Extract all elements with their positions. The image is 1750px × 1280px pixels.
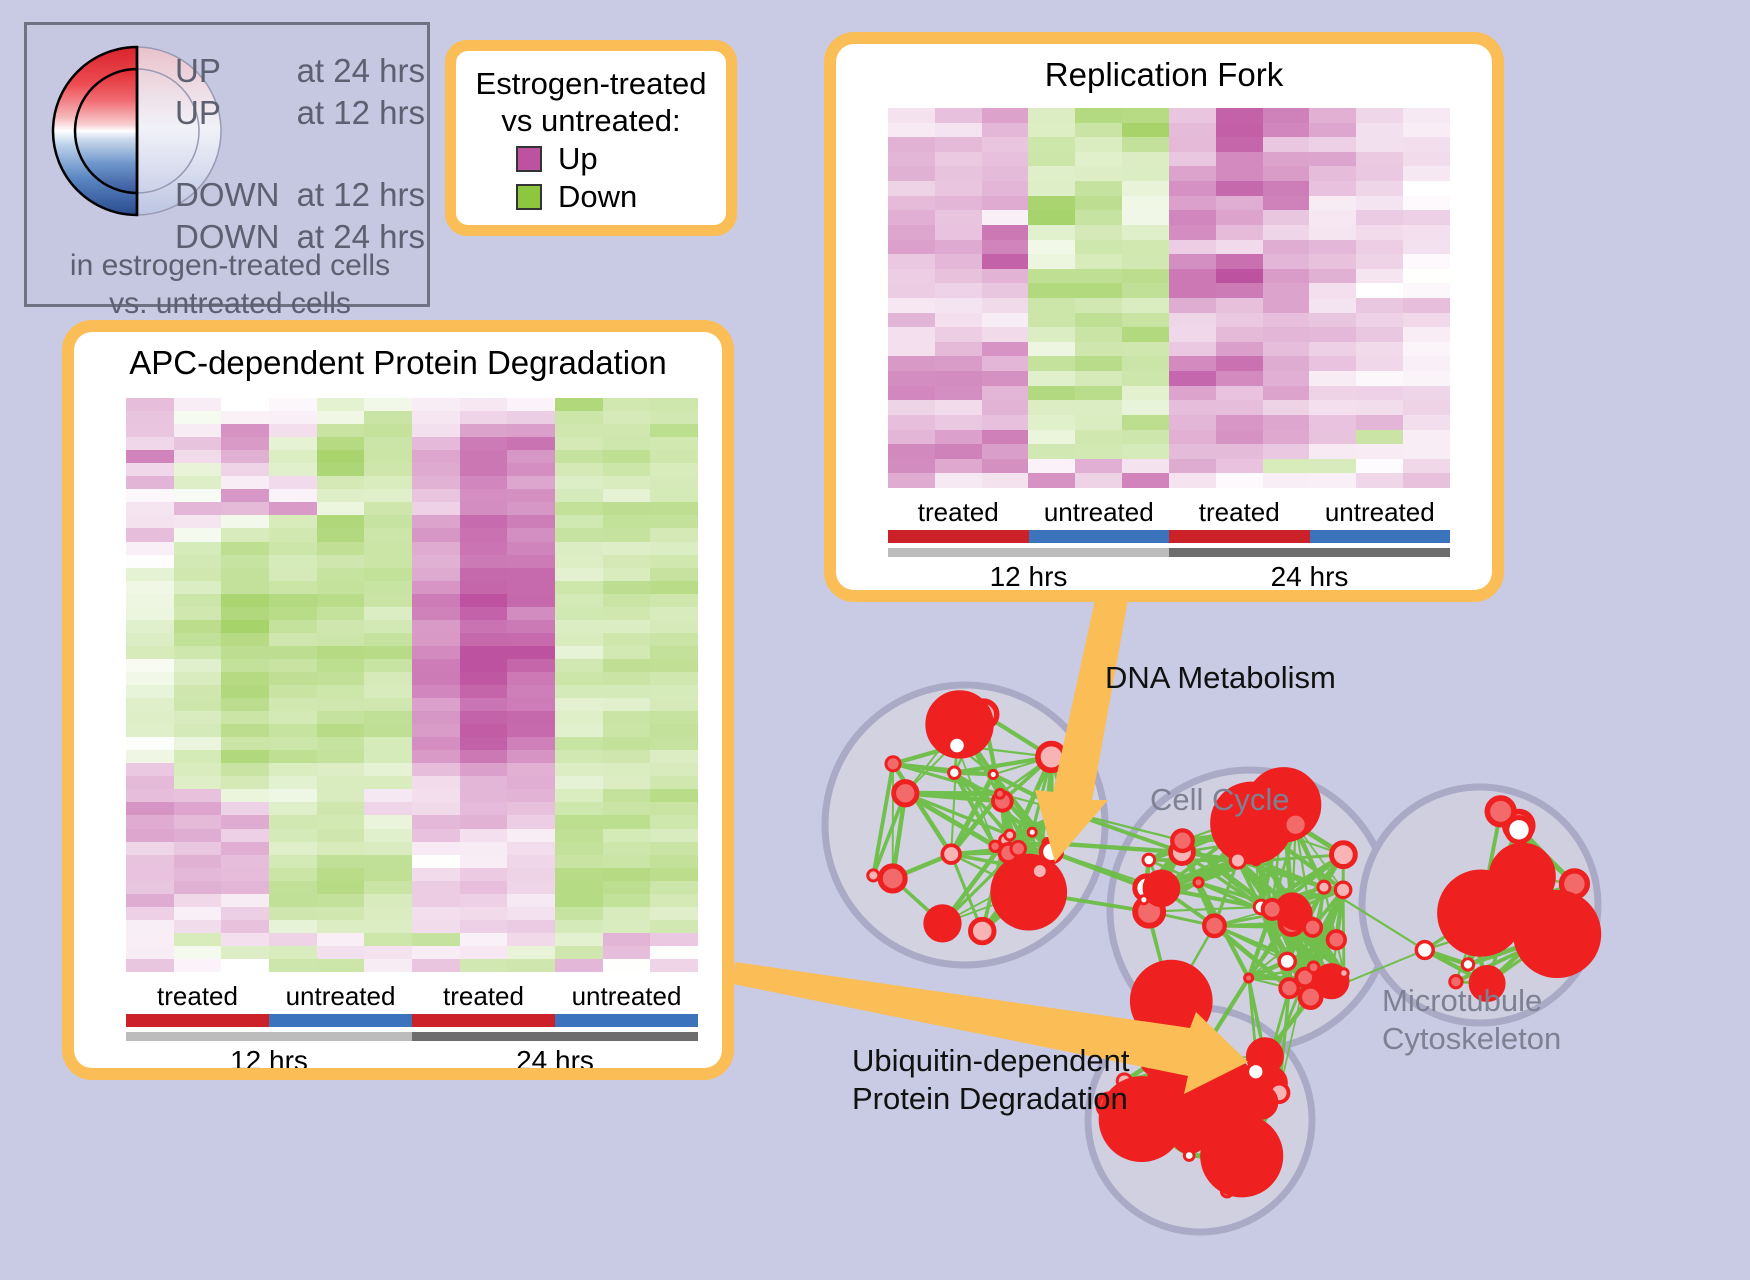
heatmap-cell	[460, 959, 508, 972]
heatmap-cell	[126, 933, 174, 946]
heatmap-cell	[1263, 415, 1310, 430]
network-node-core[interactable]	[1523, 899, 1592, 968]
heatmap-cell	[364, 594, 412, 607]
network-node[interactable]	[1184, 1151, 1194, 1161]
heatmap-cell	[1403, 473, 1450, 488]
heatmap-cell	[364, 568, 412, 581]
heatmap-cell	[555, 398, 603, 411]
heatmap-cell	[174, 437, 222, 450]
heatmap-cell	[603, 829, 651, 842]
heatmap-cell	[412, 502, 460, 515]
heatmap-cell	[317, 424, 365, 437]
heatmap-cell	[1403, 225, 1450, 240]
heatmap-cell	[1122, 298, 1169, 313]
heatmap-cell	[1356, 283, 1403, 298]
heatmap-cell	[555, 868, 603, 881]
heatmap-cell	[650, 920, 698, 933]
group-label-untreated-24: untreated	[555, 980, 698, 1012]
heatmap-cell	[126, 594, 174, 607]
heatmap-cell	[1263, 137, 1310, 152]
heatmap-cell	[174, 894, 222, 907]
bar-treated-24	[1169, 530, 1310, 543]
heatmap-cell	[174, 581, 222, 594]
heatmap-cell	[982, 108, 1029, 123]
network-node[interactable]	[1140, 896, 1148, 904]
network-node[interactable]	[1172, 830, 1193, 851]
heatmap-cell	[1216, 269, 1263, 284]
network-node[interactable]	[970, 919, 994, 943]
heatmap-cell	[1356, 152, 1403, 167]
bar-untreated-24	[555, 1014, 698, 1027]
heatmap-cell	[1028, 254, 1075, 269]
bar-treated-12	[126, 1014, 269, 1027]
heatmap-cell	[126, 424, 174, 437]
heatmap-cell	[603, 502, 651, 515]
heatmap-cell	[603, 594, 651, 607]
heatmap-cell	[888, 254, 935, 269]
heatmap-cell	[460, 555, 508, 568]
heatmap-cell	[412, 920, 460, 933]
heatmap-cell	[935, 137, 982, 152]
heatmap-cell	[507, 894, 555, 907]
heatmap-cell	[1263, 166, 1310, 181]
network-node[interactable]	[1462, 959, 1473, 970]
network-node[interactable]	[1245, 974, 1253, 982]
heatmap-cell	[1122, 152, 1169, 167]
network-node-core[interactable]	[999, 862, 1059, 922]
heatmap-cell	[1309, 356, 1356, 371]
heatmap-cell	[126, 555, 174, 568]
network-node[interactable]	[886, 757, 900, 771]
heatmap-cell	[412, 829, 460, 842]
heatmap-cell	[603, 437, 651, 450]
heatmap-cell	[126, 646, 174, 659]
heatmap-cell	[460, 398, 508, 411]
network-node[interactable]	[1005, 830, 1015, 840]
heatmap-cell	[269, 894, 317, 907]
heatmap-cell	[1169, 181, 1216, 196]
heatmap-cell	[982, 298, 1029, 313]
heatmap-cell	[1075, 225, 1122, 240]
heatmap-cell	[1356, 342, 1403, 357]
heatmap-cell	[126, 489, 174, 502]
heatmap-cell	[650, 685, 698, 698]
network-node[interactable]	[1487, 798, 1514, 825]
heatmap-cell	[364, 411, 412, 424]
heatmap-cell	[1403, 371, 1450, 386]
heatmap-cell	[982, 225, 1029, 240]
heatmap-cell	[126, 894, 174, 907]
heatmap-cell	[364, 724, 412, 737]
heatmap-cell	[412, 815, 460, 828]
heatmap-cell	[982, 152, 1029, 167]
heatmap-cell	[269, 463, 317, 476]
heatmap-cell	[460, 424, 508, 437]
heatmap-cell	[1403, 152, 1450, 167]
heatmap-cell	[982, 356, 1029, 371]
network-node-core[interactable]	[1147, 874, 1177, 904]
heatmap-cell	[174, 789, 222, 802]
heatmap-cell	[412, 789, 460, 802]
heatmap-cell	[1403, 298, 1450, 313]
network-node[interactable]	[942, 845, 960, 863]
heatmap-cell	[1169, 283, 1216, 298]
heatmap-cell	[1122, 181, 1169, 196]
heatmap-cell	[364, 528, 412, 541]
heatmap-cell	[888, 269, 935, 284]
network-node[interactable]	[1011, 841, 1025, 855]
heatmap-cell	[1216, 108, 1263, 123]
heatmap-cell	[174, 489, 222, 502]
heatmap-cell	[982, 459, 1029, 474]
network-node[interactable]	[1263, 900, 1282, 919]
heatmap-cell	[935, 313, 982, 328]
network-node-core[interactable]	[927, 908, 957, 938]
heatmap-cell	[269, 881, 317, 894]
heatmap-cell	[317, 855, 365, 868]
heatmap-cell	[1028, 240, 1075, 255]
heatmap-cell	[126, 737, 174, 750]
heatmap-cell	[507, 437, 555, 450]
heatmap-cell	[1356, 166, 1403, 181]
heatmap-cell	[174, 555, 222, 568]
network-node[interactable]	[1308, 962, 1319, 973]
heatmap-cell	[221, 411, 269, 424]
heatmap-cell	[935, 444, 982, 459]
heatmap-cell	[126, 620, 174, 633]
heatmap-cell	[1028, 210, 1075, 225]
heatmap-cell	[221, 515, 269, 528]
heatmap-cell	[507, 959, 555, 972]
heatmap-cell	[412, 411, 460, 424]
heatmap-cell	[364, 463, 412, 476]
network-node[interactable]	[1328, 931, 1346, 949]
heatmap-cell	[555, 633, 603, 646]
heatmap-cell	[507, 555, 555, 568]
heatmap-cell	[888, 415, 935, 430]
heatmap-cell	[507, 476, 555, 489]
up-swatch-icon	[516, 146, 542, 172]
group-label-untreated-12: untreated	[269, 980, 412, 1012]
axis-apc-degradation: treated untreated treated untreated 12 h	[126, 980, 698, 1068]
heatmap-cell	[1356, 356, 1403, 371]
network-node[interactable]	[1280, 979, 1298, 997]
heatmap-cell	[1356, 269, 1403, 284]
heatmap-cell	[982, 254, 1029, 269]
network-node-core[interactable]	[1496, 850, 1549, 903]
heatmap-cell	[174, 672, 222, 685]
heatmap-cell	[935, 430, 982, 445]
heatmap-cell	[888, 371, 935, 386]
heatmap-cell	[1403, 196, 1450, 211]
network-node[interactable]	[1204, 916, 1225, 937]
heatmap-cell	[982, 240, 1029, 255]
network-node[interactable]	[949, 767, 960, 778]
timepoint-label-24: 24 hrs	[1169, 559, 1450, 590]
bar-12hrs	[888, 548, 1169, 557]
heatmap-cell	[935, 196, 982, 211]
heatmap-cell	[364, 489, 412, 502]
heatmap-cell	[982, 210, 1029, 225]
heatmap-cell	[269, 594, 317, 607]
heatmap-cell	[1028, 459, 1075, 474]
heatmap-cell	[412, 398, 460, 411]
heatmap-cell	[888, 459, 935, 474]
heatmap-cell	[1075, 415, 1122, 430]
heatmap-cell	[1309, 415, 1356, 430]
heatmap-cell	[126, 881, 174, 894]
network-node[interactable]	[1247, 1063, 1264, 1080]
heatmap-cell	[1263, 444, 1310, 459]
heatmap-cell	[364, 698, 412, 711]
heatmap-cell	[1122, 356, 1169, 371]
heatmap-cell	[1263, 269, 1310, 284]
heatmap-cell	[1169, 473, 1216, 488]
heatmap-cell	[603, 894, 651, 907]
heatmap-cell	[1028, 356, 1075, 371]
network-node[interactable]	[1416, 942, 1433, 959]
heatmap-cell	[1028, 342, 1075, 357]
heatmap-cell	[364, 894, 412, 907]
network-node[interactable]	[1143, 854, 1155, 866]
heatmap-cell	[1122, 430, 1169, 445]
heatmap-cell	[364, 620, 412, 633]
heatmap-cell	[888, 240, 935, 255]
heatmap-cell	[174, 776, 222, 789]
heatmap-cell	[650, 750, 698, 763]
network-node[interactable]	[989, 770, 997, 778]
heatmap-cell	[603, 581, 651, 594]
heatmap-cell	[317, 946, 365, 959]
heatmap-cell	[317, 737, 365, 750]
heatmap-cell	[269, 672, 317, 685]
network-node[interactable]	[1041, 841, 1062, 862]
heatmap-cell	[1075, 254, 1122, 269]
network-node[interactable]	[1340, 969, 1348, 977]
heatmap-cell	[650, 946, 698, 959]
heatmap-cell	[221, 646, 269, 659]
heatmap-cell	[317, 959, 365, 972]
network-node[interactable]	[868, 870, 879, 881]
network-node[interactable]	[1331, 843, 1355, 867]
heatmap-cell	[1122, 459, 1169, 474]
heatmap-cell	[555, 659, 603, 672]
heatmap-cell	[364, 907, 412, 920]
heatmap-cell	[507, 946, 555, 959]
heatmap-cell	[364, 763, 412, 776]
heatmap-cell	[1309, 430, 1356, 445]
heatmap-cell	[412, 594, 460, 607]
heatmap-cell	[460, 750, 508, 763]
heatmap-cell	[1356, 459, 1403, 474]
heatmap-cell	[269, 398, 317, 411]
heatmap-cell	[269, 450, 317, 463]
heatmap-cell	[269, 555, 317, 568]
network-node[interactable]	[894, 782, 917, 805]
heatmap-cell	[364, 737, 412, 750]
heatmap-cell	[650, 711, 698, 724]
heatmap-cell	[317, 515, 365, 528]
heatmap-cell	[935, 386, 982, 401]
heatmap-cell	[364, 424, 412, 437]
heatmap-cell	[412, 737, 460, 750]
heatmap-cell	[1075, 283, 1122, 298]
network-node[interactable]	[1318, 881, 1330, 893]
heatmap-cell	[555, 672, 603, 685]
heatmap-cell	[650, 737, 698, 750]
heatmap-cell	[460, 829, 508, 842]
heatmap-cell	[1216, 400, 1263, 415]
network-node-core[interactable]	[1139, 969, 1204, 1034]
heatmap-cell	[1122, 166, 1169, 181]
network-node[interactable]	[995, 789, 1004, 798]
network-node-core[interactable]	[1240, 1152, 1267, 1179]
heatmap-cell	[221, 842, 269, 855]
heatmap-cell	[412, 750, 460, 763]
heatmap-cell	[269, 437, 317, 450]
heatmap-cell	[1122, 415, 1169, 430]
heatmap-cell	[174, 868, 222, 881]
heatmap-cell	[1075, 342, 1122, 357]
heatmap-cell	[126, 633, 174, 646]
heatmap-cell	[1263, 473, 1310, 488]
heatmap-cell	[1216, 254, 1263, 269]
heatmap-cell	[888, 400, 935, 415]
heatmap-cell	[1169, 415, 1216, 430]
heatmap-cell	[412, 581, 460, 594]
network-node[interactable]	[1032, 864, 1047, 879]
heatmap-cell	[221, 685, 269, 698]
heatmap-cell	[364, 555, 412, 568]
heatmap-cell	[507, 933, 555, 946]
heatmap-cell	[888, 225, 935, 240]
heatmap-cell	[1028, 181, 1075, 196]
heatmap-cell	[603, 789, 651, 802]
heatmap-cell	[507, 829, 555, 842]
bar-untreated-12	[269, 1014, 412, 1027]
heatmap-cell	[1403, 342, 1450, 357]
heatmap-cell	[269, 659, 317, 672]
heatmap-cell	[317, 711, 365, 724]
heatmap-cell	[603, 776, 651, 789]
heatmap-cell	[1403, 444, 1450, 459]
heatmap-cell	[174, 711, 222, 724]
timepoint-label-row: 12 hrs 24 hrs	[126, 1043, 698, 1068]
heatmap-cell	[555, 776, 603, 789]
heatmap-cell	[1263, 225, 1310, 240]
heatmap-cell	[1263, 210, 1310, 225]
heatmap-cell	[603, 542, 651, 555]
heatmap-cell	[1028, 283, 1075, 298]
heatmap-cell	[364, 542, 412, 555]
heatmap-cell	[412, 959, 460, 972]
heatmap-cell	[507, 528, 555, 541]
network-node[interactable]	[1038, 744, 1065, 771]
heatmap-cell	[126, 502, 174, 515]
heatmap-cell	[221, 672, 269, 685]
heatmap-cell	[126, 607, 174, 620]
network-node[interactable]	[1028, 828, 1036, 836]
heatmap-cell	[888, 137, 935, 152]
heatmap-cell	[126, 842, 174, 855]
network-node-core[interactable]	[1247, 1088, 1275, 1116]
network-node-core[interactable]	[1151, 1061, 1178, 1088]
heatmap-cell	[1216, 196, 1263, 211]
heatmap-cell	[174, 542, 222, 555]
group-label-row: treated untreated treated untreated	[126, 980, 698, 1012]
heatmap-cell	[126, 907, 174, 920]
heatmap-cell	[317, 594, 365, 607]
heatmap-cell	[507, 776, 555, 789]
heatmap-cell	[317, 815, 365, 828]
network-node[interactable]	[1335, 882, 1350, 897]
heatmap-cell	[317, 437, 365, 450]
heatmap-cell	[507, 737, 555, 750]
heatmap-cell	[126, 685, 174, 698]
network-node[interactable]	[1300, 986, 1321, 1007]
heatmap-cell	[269, 489, 317, 502]
heatmap-cell	[317, 489, 365, 502]
heatmap-cell	[1263, 196, 1310, 211]
heatmap-cell	[650, 698, 698, 711]
heatmap-cell	[221, 933, 269, 946]
heatmap-cell	[1216, 152, 1263, 167]
heatmap-cell	[650, 789, 698, 802]
heatmap-cell	[935, 283, 982, 298]
group-label-treated-24: treated	[412, 980, 555, 1012]
heatmap-cell	[555, 946, 603, 959]
network-node[interactable]	[948, 737, 965, 754]
heatmap-cell	[650, 672, 698, 685]
heatmap-cell	[555, 959, 603, 972]
heatmap-cell	[269, 829, 317, 842]
heatmap-cell	[269, 502, 317, 515]
heatmap-cell	[603, 568, 651, 581]
heatmap-cell	[650, 542, 698, 555]
network-node[interactable]	[1194, 878, 1203, 887]
heatmap-cell	[1309, 137, 1356, 152]
heatmap-cell	[221, 724, 269, 737]
heatmap-cell	[174, 594, 222, 607]
bar-untreated-12	[1029, 530, 1170, 543]
heatmap-cell	[126, 829, 174, 842]
heatmap-cell	[507, 724, 555, 737]
heatmap-cell	[1263, 430, 1310, 445]
heatmap-cell	[1216, 430, 1263, 445]
heatmap-cell	[460, 763, 508, 776]
heatmap-cell	[460, 724, 508, 737]
heatmap-cell	[460, 568, 508, 581]
heatmap-cell	[1075, 444, 1122, 459]
heatmap-cell	[221, 737, 269, 750]
heatmap-cell	[507, 411, 555, 424]
network-node-core[interactable]	[1181, 1048, 1210, 1077]
heatmap-cell	[1309, 371, 1356, 386]
network-node[interactable]	[880, 866, 905, 891]
network-node[interactable]	[1230, 853, 1245, 868]
heatmap-cell	[603, 802, 651, 815]
network-node[interactable]	[1054, 799, 1078, 823]
heatmap-cell	[1122, 137, 1169, 152]
heatmap-cell	[507, 907, 555, 920]
heatmap-cell	[935, 152, 982, 167]
heatmap-cell	[460, 894, 508, 907]
heatmap-cell	[221, 763, 269, 776]
heatmap-cell	[650, 620, 698, 633]
network-node[interactable]	[1279, 953, 1295, 969]
heatmap-cell	[317, 502, 365, 515]
group-color-bar	[888, 530, 1450, 543]
